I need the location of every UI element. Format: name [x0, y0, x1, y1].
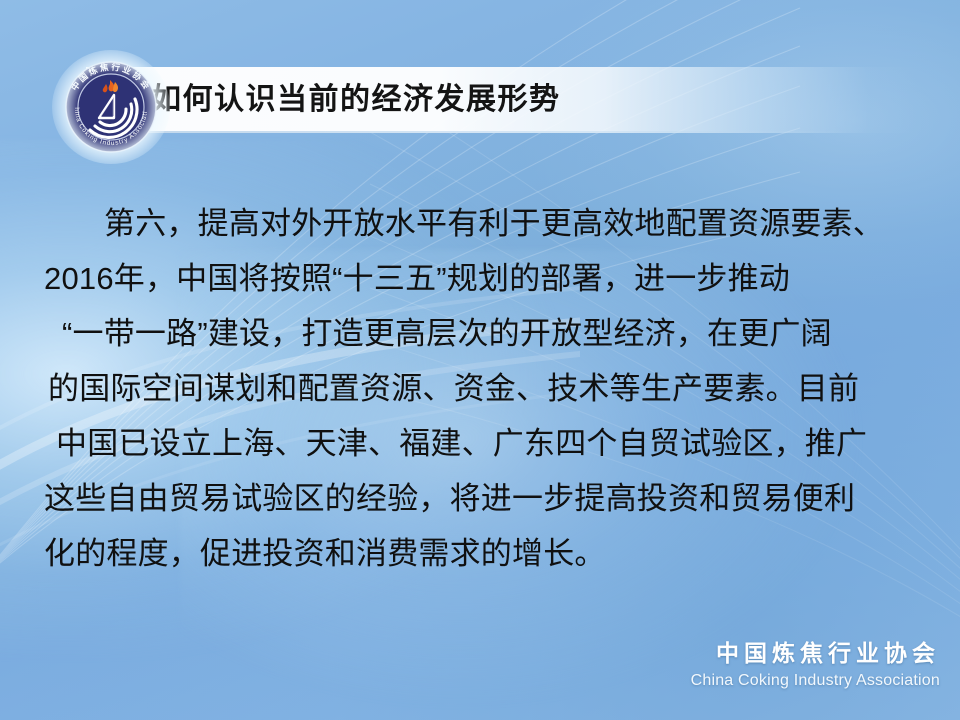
title-band-underline [86, 131, 918, 133]
body-line: 的国际空间谋划和配置资源、资金、技术等生产要素。目前 [40, 361, 926, 416]
body-line: 2016年，中国将按照“十三五”规划的部署，进一步推动 [40, 251, 926, 306]
presentation-slide: 一、如何认识当前的经济发展形势 中国炼焦行业协会 China Coking In… [0, 0, 960, 720]
body-line: 化的程度，促进投资和消费需求的增长。 [40, 526, 926, 581]
body-line: 这些自由贸易试验区的经验，将进一步提高投资和贸易便利 [40, 471, 926, 526]
association-logo: 中国炼焦行业协会 China Coking Industry Associati… [58, 56, 164, 158]
footer-name-cn: 中国炼焦行业协会 [691, 638, 940, 668]
body-line: “一带一路”建设，打造更高层次的开放型经济，在更广阔 [40, 306, 926, 361]
body-line: 第六，提高对外开放水平有利于更高效地配置资源要素、 [40, 196, 926, 251]
body-text-block: 第六，提高对外开放水平有利于更高效地配置资源要素、 2016年，中国将按照“十三… [40, 196, 926, 581]
logo-glow [52, 50, 170, 164]
footer-branding: 中国炼焦行业协会 China Coking Industry Associati… [691, 638, 940, 692]
body-line: 中国已设立上海、天津、福建、广东四个自贸试验区，推广 [40, 416, 926, 471]
footer-name-en: China Coking Industry Association [691, 670, 940, 692]
